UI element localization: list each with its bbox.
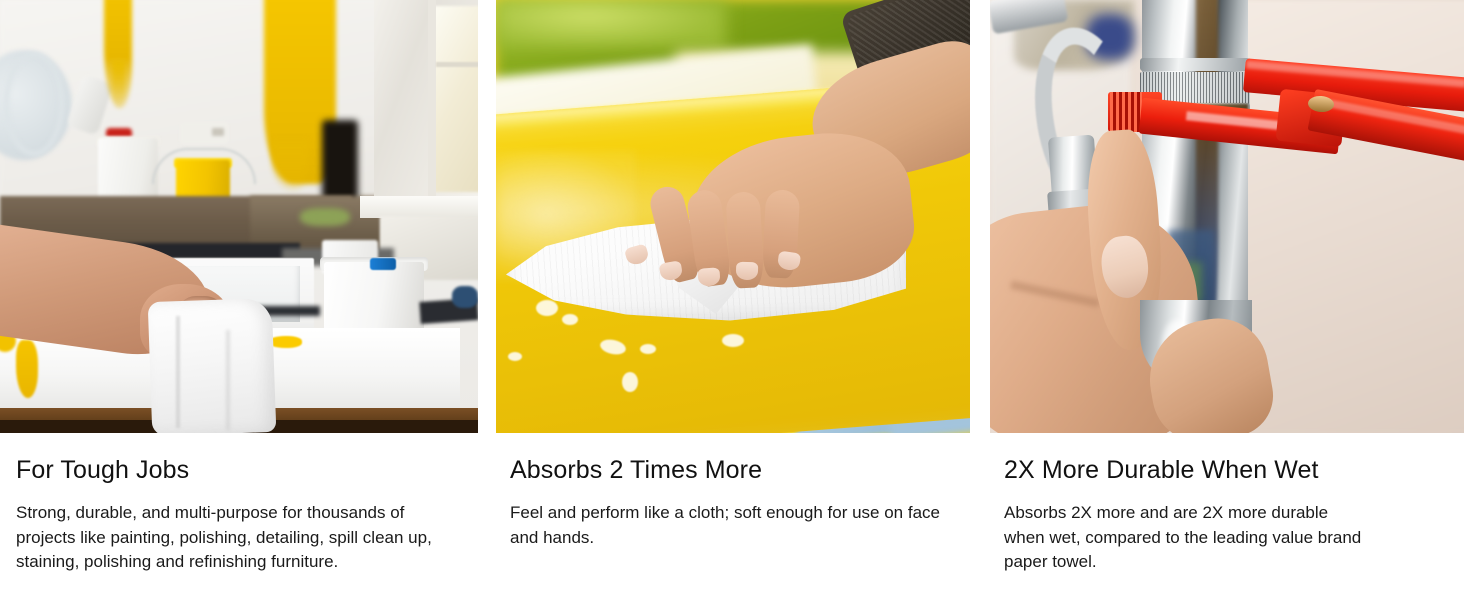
feature-column-absorbs-2-times-more: Absorbs 2 Times More Feel and perform li…	[496, 0, 970, 600]
feature-description: Feel and perform like a cloth; soft enou…	[510, 501, 952, 550]
feature-description: Strong, durable, and multi-purpose for t…	[16, 501, 460, 575]
feature-title: For Tough Jobs	[16, 455, 460, 485]
plumbing-pipe-wrench-photo	[990, 0, 1464, 433]
feature-grid: For Tough Jobs Strong, durable, and mult…	[0, 0, 1464, 600]
feature-image-absorbs-2-times-more	[496, 0, 970, 433]
feature-image-for-tough-jobs	[0, 0, 478, 433]
feature-text-absorbs-2-times-more: Absorbs 2 Times More Feel and perform li…	[496, 433, 970, 550]
feature-title: Absorbs 2 Times More	[510, 455, 952, 485]
feature-text-for-tough-jobs: For Tough Jobs Strong, durable, and mult…	[0, 433, 478, 575]
feature-image-2x-more-durable-when-wet	[990, 0, 1464, 433]
feature-title: 2X More Durable When Wet	[1004, 455, 1446, 485]
feature-description: Absorbs 2X more and are 2X more durable …	[1004, 501, 1364, 575]
feature-text-2x-more-durable-when-wet: 2X More Durable When Wet Absorbs 2X more…	[990, 433, 1464, 575]
wiping-yellow-surface-photo	[496, 0, 970, 433]
feature-column-for-tough-jobs: For Tough Jobs Strong, durable, and mult…	[0, 0, 478, 600]
feature-column-2x-more-durable-when-wet: 2X More Durable When Wet Absorbs 2X more…	[990, 0, 1464, 600]
paint-spill-sink-cleanup-photo	[0, 0, 478, 433]
